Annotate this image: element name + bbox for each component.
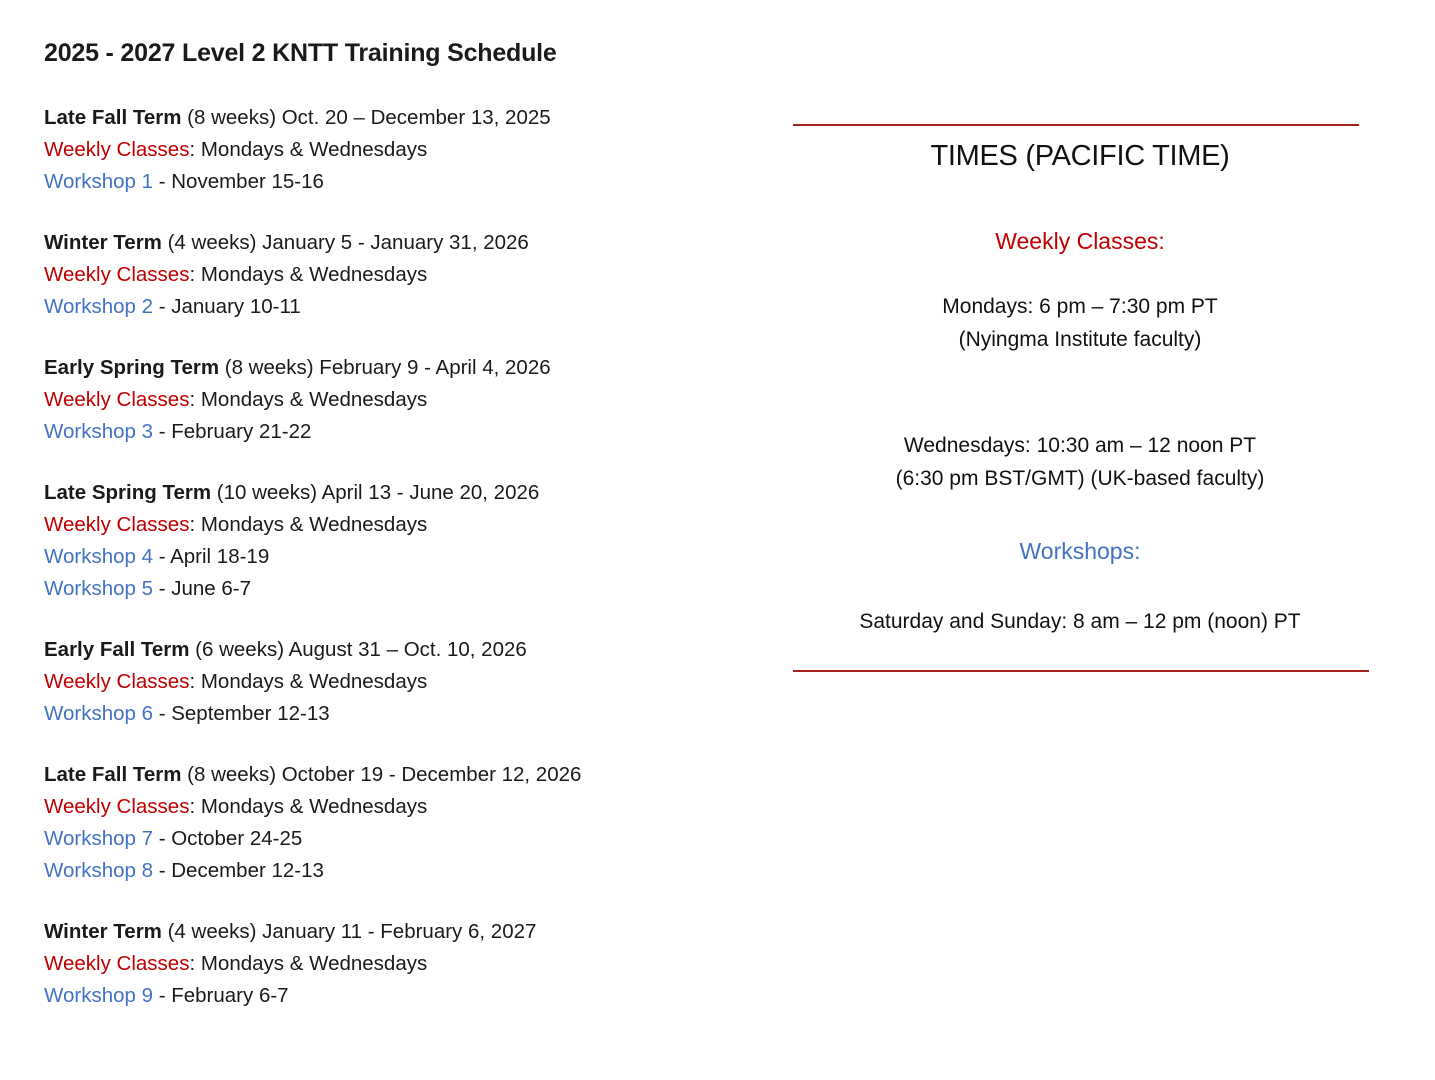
term-detail: (4 weeks) January 5 - January 31, 2026 [162, 231, 529, 254]
wednesday-time-line: Wednesdays: 10:30 am – 12 noon PT [760, 429, 1400, 462]
workshop-label: Workshop 1 [44, 170, 153, 193]
weekly-classes-value: : Mondays & Wednesdays [189, 513, 427, 536]
workshop-line: Workshop 5 - June 6-7 [44, 573, 724, 605]
workshop-value: - February 6-7 [153, 984, 289, 1007]
term-name: Winter Term [44, 920, 162, 943]
weekly-classes-label: Weekly Classes [44, 513, 189, 536]
weekly-classes-label: Weekly Classes [44, 795, 189, 818]
workshop-label: Workshop 3 [44, 420, 153, 443]
workshop-value: - September 12-13 [153, 702, 330, 725]
weekly-classes-value: : Mondays & Wednesdays [189, 952, 427, 975]
workshop-time-line: Saturday and Sunday: 8 am – 12 pm (noon)… [760, 605, 1400, 638]
workshop-label: Workshop 6 [44, 702, 153, 725]
workshop-line: Workshop 7 - October 24-25 [44, 823, 724, 855]
weekly-classes-label: Weekly Classes [44, 138, 189, 161]
term-block: Winter Term (4 weeks) January 11 - Febru… [44, 916, 724, 1012]
workshops-heading: Workshops: [760, 535, 1400, 567]
term-heading-line: Late Fall Term (8 weeks) October 19 - De… [44, 759, 724, 791]
workshop-line: Workshop 6 - September 12-13 [44, 698, 724, 730]
term-heading-line: Early Spring Term (8 weeks) February 9 -… [44, 352, 724, 384]
divider-bottom [793, 670, 1369, 672]
term-block: Early Spring Term (8 weeks) February 9 -… [44, 352, 724, 448]
weekly-classes-label: Weekly Classes [44, 952, 189, 975]
term-block: Late Fall Term (8 weeks) October 19 - De… [44, 759, 724, 887]
term-detail: (8 weeks) October 19 - December 12, 2026 [181, 763, 581, 786]
workshop-label: Workshop 7 [44, 827, 153, 850]
term-name: Winter Term [44, 231, 162, 254]
term-heading-line: Winter Term (4 weeks) January 5 - Januar… [44, 227, 724, 259]
term-detail: (8 weeks) Oct. 20 – December 13, 2025 [181, 106, 550, 129]
term-heading-line: Winter Term (4 weeks) January 11 - Febru… [44, 916, 724, 948]
weekly-classes-line: Weekly Classes: Mondays & Wednesdays [44, 948, 724, 980]
weekly-classes-line: Weekly Classes: Mondays & Wednesdays [44, 259, 724, 291]
term-block: Winter Term (4 weeks) January 5 - Januar… [44, 227, 724, 323]
term-name: Late Fall Term [44, 106, 181, 129]
workshop-line: Workshop 2 - January 10-11 [44, 291, 724, 323]
workshop-label: Workshop 4 [44, 545, 153, 568]
workshop-label: Workshop 2 [44, 295, 153, 318]
workshop-value: - January 10-11 [153, 295, 301, 318]
divider-top [793, 124, 1359, 126]
page-title: 2025 - 2027 Level 2 KNTT Training Schedu… [44, 36, 724, 70]
weekly-classes-value: : Mondays & Wednesdays [189, 263, 427, 286]
weekly-classes-line: Weekly Classes: Mondays & Wednesdays [44, 384, 724, 416]
term-name: Late Fall Term [44, 763, 181, 786]
workshop-line: Workshop 9 - February 6-7 [44, 980, 724, 1012]
weekly-classes-line: Weekly Classes: Mondays & Wednesdays [44, 509, 724, 541]
workshop-value: - November 15-16 [153, 170, 324, 193]
term-detail: (8 weeks) February 9 - April 4, 2026 [219, 356, 551, 379]
schedule-column: 2025 - 2027 Level 2 KNTT Training Schedu… [44, 36, 724, 1012]
weekly-classes-line: Weekly Classes: Mondays & Wednesdays [44, 134, 724, 166]
weekly-classes-line: Weekly Classes: Mondays & Wednesdays [44, 791, 724, 823]
monday-faculty-line: (Nyingma Institute faculty) [760, 323, 1400, 356]
workshop-label: Workshop 8 [44, 859, 153, 882]
term-block: Late Fall Term (8 weeks) Oct. 20 – Decem… [44, 102, 724, 198]
term-block: Early Fall Term (6 weeks) August 31 – Oc… [44, 634, 724, 730]
term-detail: (6 weeks) August 31 – Oct. 10, 2026 [189, 638, 526, 661]
weekly-classes-value: : Mondays & Wednesdays [189, 670, 427, 693]
workshop-label: Workshop 5 [44, 577, 153, 600]
term-name: Early Spring Term [44, 356, 219, 379]
times-panel: TIMES (PACIFIC TIME) Weekly Classes: Mon… [760, 110, 1400, 638]
weekly-classes-label: Weekly Classes [44, 670, 189, 693]
term-name: Early Fall Term [44, 638, 189, 661]
schedule-page: 2025 - 2027 Level 2 KNTT Training Schedu… [0, 0, 1435, 1080]
term-detail: (10 weeks) April 13 - June 20, 2026 [211, 481, 539, 504]
monday-time-line: Mondays: 6 pm – 7:30 pm PT [760, 290, 1400, 323]
times-heading: TIMES (PACIFIC TIME) [760, 137, 1400, 175]
workshop-value: - February 21-22 [153, 420, 311, 443]
weekly-classes-value: : Mondays & Wednesdays [189, 388, 427, 411]
term-detail: (4 weeks) January 11 - February 6, 2027 [162, 920, 537, 943]
weekly-classes-value: : Mondays & Wednesdays [189, 795, 427, 818]
workshop-line: Workshop 4 - April 18-19 [44, 541, 724, 573]
weekly-classes-label: Weekly Classes [44, 263, 189, 286]
term-heading-line: Late Spring Term (10 weeks) April 13 - J… [44, 477, 724, 509]
wednesday-faculty-line: (6:30 pm BST/GMT) (UK-based faculty) [760, 462, 1400, 495]
weekly-classes-label: Weekly Classes [44, 388, 189, 411]
term-heading-line: Late Fall Term (8 weeks) Oct. 20 – Decem… [44, 102, 724, 134]
workshop-label: Workshop 9 [44, 984, 153, 1007]
term-name: Late Spring Term [44, 481, 211, 504]
workshop-value: - December 12-13 [153, 859, 324, 882]
workshop-value: - June 6-7 [153, 577, 251, 600]
workshop-value: - April 18-19 [153, 545, 269, 568]
workshop-line: Workshop 8 - December 12-13 [44, 855, 724, 887]
workshop-value: - October 24-25 [153, 827, 302, 850]
term-block: Late Spring Term (10 weeks) April 13 - J… [44, 477, 724, 605]
weekly-classes-heading: Weekly Classes: [760, 225, 1400, 257]
term-heading-line: Early Fall Term (6 weeks) August 31 – Oc… [44, 634, 724, 666]
weekly-classes-value: : Mondays & Wednesdays [189, 138, 427, 161]
workshop-line: Workshop 3 - February 21-22 [44, 416, 724, 448]
workshop-line: Workshop 1 - November 15-16 [44, 166, 724, 198]
weekly-classes-line: Weekly Classes: Mondays & Wednesdays [44, 666, 724, 698]
